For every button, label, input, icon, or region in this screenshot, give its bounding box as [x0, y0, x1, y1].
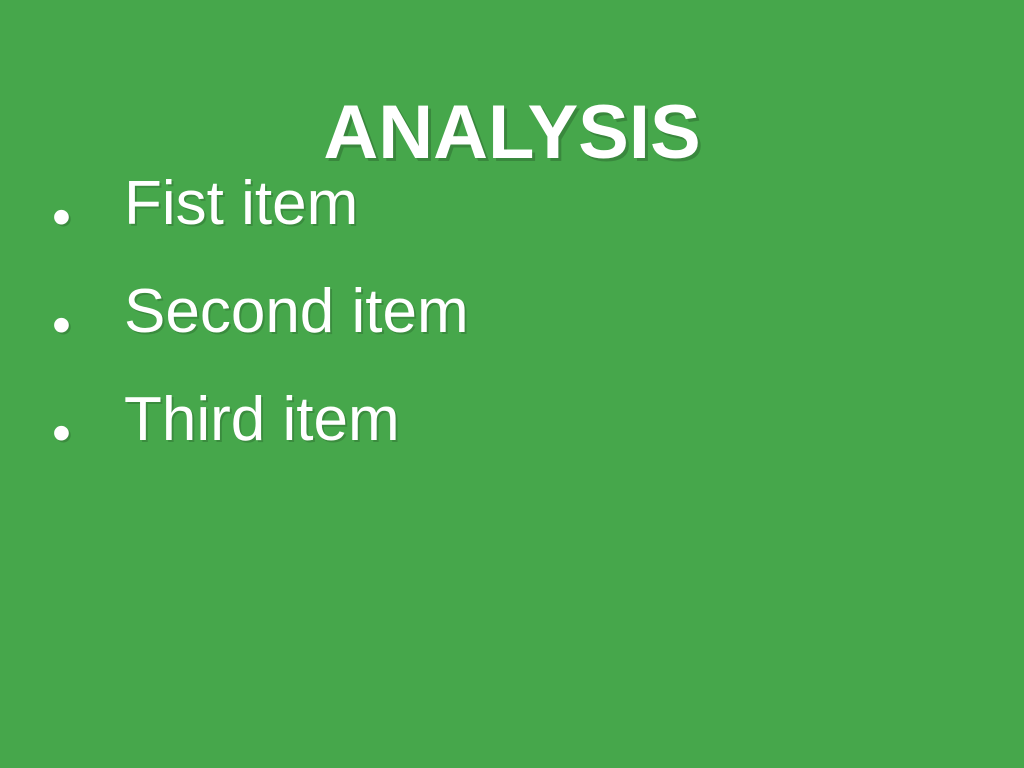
list-item-label: Third item — [124, 384, 400, 456]
bullet-icon: • — [52, 406, 80, 460]
presentation-slide: ANALYSIS • Fist item • Second item • Thi… — [0, 0, 1024, 768]
bullet-icon: • — [52, 298, 80, 352]
list-item-label: Second item — [124, 276, 469, 348]
page-title: ANALYSIS — [0, 95, 1024, 171]
bullet-icon: • — [52, 190, 80, 244]
bullet-list: • Fist item • Second item • Third item — [0, 168, 1024, 492]
list-item: • Third item — [0, 384, 1024, 492]
list-item: • Second item — [0, 276, 1024, 384]
list-item-label: Fist item — [124, 168, 358, 240]
list-item: • Fist item — [0, 168, 1024, 276]
